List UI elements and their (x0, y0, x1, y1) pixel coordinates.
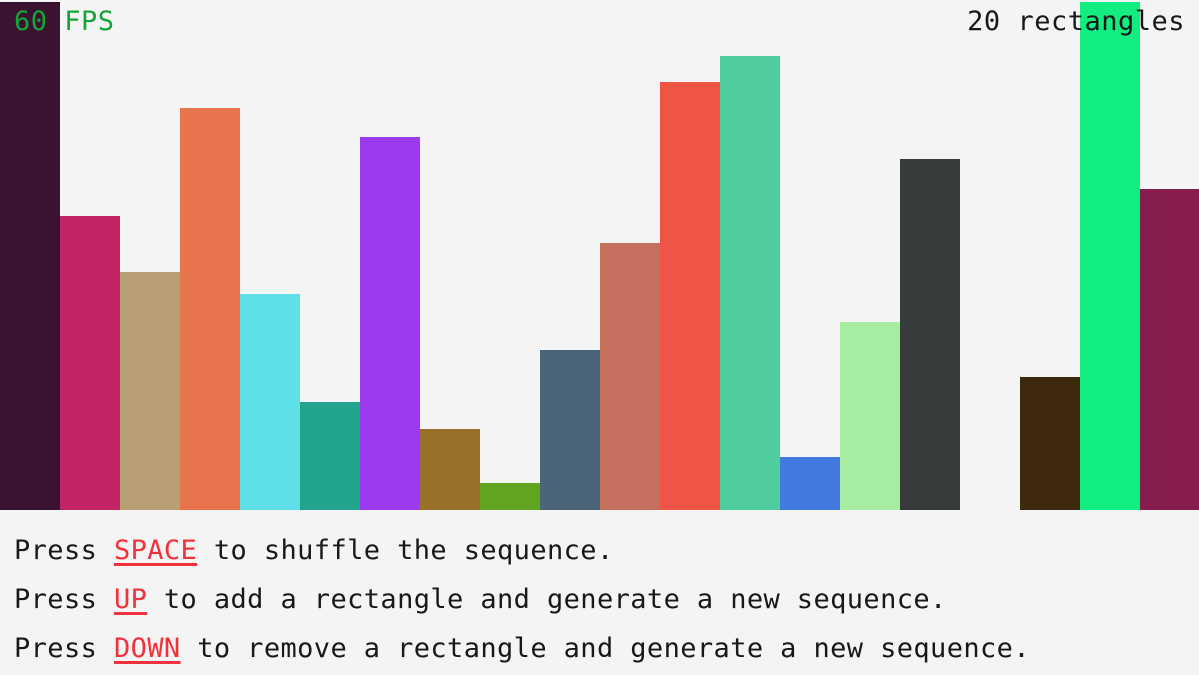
keyboard-key-up[interactable]: UP (114, 584, 147, 615)
instruction-suffix: to remove a rectangle and generate a new… (181, 633, 1030, 664)
instruction-prefix: Press (14, 535, 114, 566)
bar-rectangle (840, 322, 900, 510)
keyboard-key-down[interactable]: DOWN (114, 633, 181, 664)
instructions-panel: Press SPACE to shuffle the sequence.Pres… (0, 512, 1199, 675)
instruction-line: Press DOWN to remove a rectangle and gen… (14, 624, 1199, 673)
bar-rectangle (360, 137, 420, 510)
bar-rectangle (900, 159, 960, 510)
bar-rectangle (120, 272, 180, 510)
bar-rectangle (240, 294, 300, 510)
bar-rectangle (180, 108, 240, 510)
instruction-prefix: Press (14, 584, 114, 615)
instruction-suffix: to add a rectangle and generate a new se… (147, 584, 946, 615)
instruction-line: Press SPACE to shuffle the sequence. (14, 526, 1199, 575)
bar-rectangle (60, 216, 120, 510)
bar-rectangle (780, 457, 840, 510)
bar-rectangle (1140, 189, 1199, 510)
bar-rectangle (600, 243, 660, 510)
bar-rectangle (540, 350, 600, 510)
bar-chart-canvas (0, 0, 1199, 510)
rectangle-count-label: 20 rectangles (967, 8, 1185, 35)
bar-rectangle (1020, 377, 1080, 510)
fps-counter: 60 FPS (14, 8, 115, 35)
bar-rectangle (1080, 2, 1140, 510)
bar-rectangle (300, 402, 360, 510)
bar-rectangle (420, 429, 480, 510)
bar-rectangle (720, 56, 780, 510)
instruction-suffix: to shuffle the sequence. (197, 535, 613, 566)
instruction-prefix: Press (14, 633, 114, 664)
keyboard-key-space[interactable]: SPACE (114, 535, 197, 566)
bar-rectangle (660, 82, 720, 510)
instruction-line: Press UP to add a rectangle and generate… (14, 575, 1199, 624)
bar-rectangle (480, 483, 540, 510)
bar-rectangle (0, 2, 60, 510)
